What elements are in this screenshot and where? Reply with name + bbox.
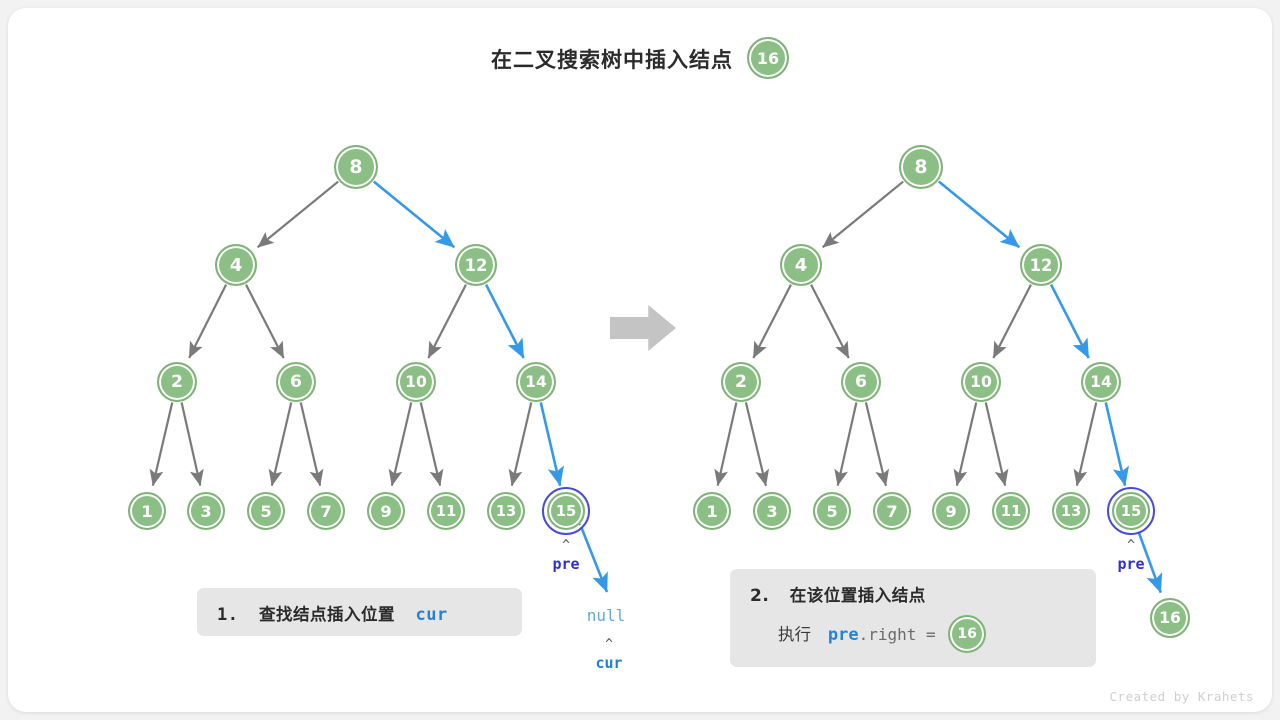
tree-node-15[interactable]: 15 bbox=[1112, 492, 1150, 530]
caption2-number: 2. bbox=[750, 586, 769, 606]
tree-edge bbox=[1077, 402, 1096, 485]
null-edge bbox=[580, 524, 607, 592]
tree-edge bbox=[421, 402, 440, 485]
tree-node-3[interactable]: 3 bbox=[187, 492, 225, 530]
left-tree-edges bbox=[153, 182, 560, 486]
diagram-canvas: 在二叉搜索树中插入结点16 841226101413579111315 8412… bbox=[0, 0, 1280, 720]
caption1-number: 1. bbox=[217, 605, 238, 625]
pre-label-left: pre bbox=[552, 555, 579, 573]
caption-step-1: 1. 查找结点插入位置 cur bbox=[197, 588, 522, 636]
tree-node-5[interactable]: 5 bbox=[247, 492, 285, 530]
tree-node-8[interactable]: 8 bbox=[899, 145, 943, 189]
caption2-line1: 在该位置插入结点 bbox=[790, 586, 926, 605]
caption2-line2-prefix: 执行 bbox=[778, 625, 811, 644]
tree-edge bbox=[428, 285, 466, 358]
tree-node-2[interactable]: 2 bbox=[157, 362, 197, 402]
tree-node-10[interactable]: 10 bbox=[961, 362, 1001, 402]
tree-edge bbox=[939, 182, 1019, 248]
tree-node-12[interactable]: 12 bbox=[1020, 244, 1062, 286]
tree-edge bbox=[258, 182, 338, 248]
transition-arrow-shape bbox=[610, 305, 676, 351]
tree-edge bbox=[512, 402, 531, 485]
tree-node-6[interactable]: 6 bbox=[841, 362, 881, 402]
tree-node-1[interactable]: 1 bbox=[693, 492, 731, 530]
tree-node-8[interactable]: 8 bbox=[334, 145, 378, 189]
tree-node-11[interactable]: 11 bbox=[427, 492, 465, 530]
tree-edge bbox=[993, 285, 1031, 358]
tree-node-10[interactable]: 10 bbox=[396, 362, 436, 402]
tree-edge bbox=[1051, 285, 1089, 358]
caption1-var-cur: cur bbox=[415, 605, 447, 625]
cur-caret: ^ bbox=[605, 637, 613, 652]
tree-edge bbox=[301, 402, 320, 485]
tree-node-11[interactable]: 11 bbox=[992, 492, 1030, 530]
tree-node-7[interactable]: 7 bbox=[307, 492, 345, 530]
tree-edge bbox=[153, 402, 172, 485]
tree-node-5[interactable]: 5 bbox=[813, 492, 851, 530]
tree-edge bbox=[957, 402, 976, 485]
tree-node-14[interactable]: 14 bbox=[1081, 362, 1121, 402]
tree-node-16[interactable]: 16 bbox=[1150, 598, 1190, 638]
tree-node-13[interactable]: 13 bbox=[487, 492, 525, 530]
tree-edge bbox=[811, 285, 849, 358]
tree-node-7[interactable]: 7 bbox=[873, 492, 911, 530]
tree-node-6[interactable]: 6 bbox=[276, 362, 316, 402]
tree-node-4[interactable]: 4 bbox=[780, 244, 822, 286]
caption2-field: .right = bbox=[859, 625, 936, 644]
caption-step-2: 2. 在该位置插入结点 执行 pre.right = 16 bbox=[730, 569, 1096, 667]
tree-edge bbox=[392, 402, 411, 485]
pre-caret-right: ^ bbox=[1127, 538, 1135, 553]
tree-edge bbox=[1106, 402, 1125, 485]
tree-node-15[interactable]: 15 bbox=[547, 492, 585, 530]
tree-node-13[interactable]: 13 bbox=[1052, 492, 1090, 530]
caption2-badge-node: 16 bbox=[948, 615, 986, 653]
tree-node-9[interactable]: 9 bbox=[367, 492, 405, 530]
pre-caret-left: ^ bbox=[562, 538, 570, 553]
tree-edge bbox=[718, 402, 737, 485]
caption1-text: 查找结点插入位置 bbox=[259, 605, 395, 624]
footer-credit: Created by Krahets bbox=[1110, 689, 1254, 704]
tree-edge bbox=[246, 285, 284, 358]
cur-label: cur bbox=[595, 654, 622, 672]
tree-edge bbox=[182, 402, 201, 485]
tree-node-4[interactable]: 4 bbox=[215, 244, 257, 286]
tree-edge bbox=[541, 402, 560, 485]
tree-edge bbox=[753, 285, 791, 358]
tree-edge bbox=[823, 182, 903, 248]
tree-edge bbox=[272, 402, 291, 485]
tree-edge bbox=[374, 182, 454, 248]
null-label: null bbox=[587, 606, 626, 625]
pre-label-right: pre bbox=[1117, 555, 1144, 573]
tree-node-12[interactable]: 12 bbox=[455, 244, 497, 286]
tree-node-1[interactable]: 1 bbox=[128, 492, 166, 530]
transition-arrow-path bbox=[610, 305, 676, 351]
pointer-arrows bbox=[580, 524, 607, 592]
caption2-var-pre: pre bbox=[828, 625, 859, 645]
tree-edge bbox=[486, 285, 524, 358]
tree-edge bbox=[189, 285, 226, 358]
tree-edge bbox=[866, 402, 886, 485]
tree-node-14[interactable]: 14 bbox=[516, 362, 556, 402]
tree-edge bbox=[838, 402, 857, 485]
tree-edge bbox=[746, 402, 766, 485]
tree-node-9[interactable]: 9 bbox=[932, 492, 970, 530]
tree-node-2[interactable]: 2 bbox=[721, 362, 761, 402]
tree-edge bbox=[986, 402, 1005, 485]
tree-node-3[interactable]: 3 bbox=[753, 492, 791, 530]
